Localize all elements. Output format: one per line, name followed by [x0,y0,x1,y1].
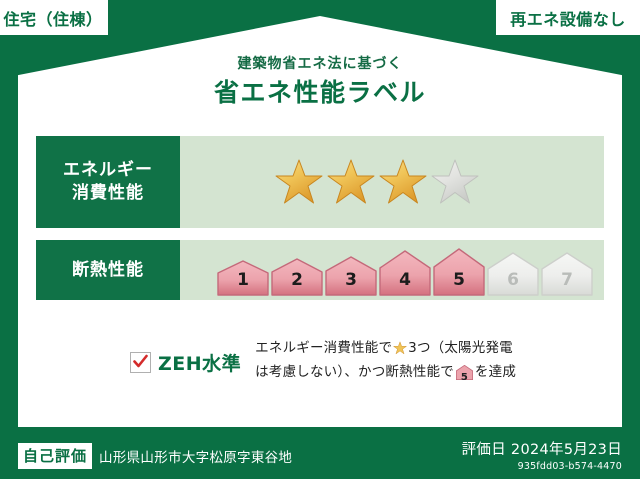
zeh-desc-part1: エネルギー消費性能で [255,340,392,356]
zeh-desc-stars: 3つ（太陽光発電 [408,340,513,356]
star-filled-icon [378,157,428,207]
house-level-filled-icon: 5 [433,248,485,296]
title-subtitle: 建築物省エネ法に基づく [0,56,640,73]
row-energy-label: エネルギー 消費性能 [36,136,180,228]
zeh-standard-block: ZEH水準 エネルギー消費性能で3つ（太陽光発電 は考慮しない）、かつ断熱性能で… [130,338,560,387]
zeh-mark: ZEH水準 [130,349,241,376]
row-energy-value [180,136,604,228]
zeh-checkbox[interactable] [130,352,151,373]
footer-left: 自己評価 山形県山形市大字松原字東谷地 [18,443,292,469]
row-energy-label-line2: 消費性能 [72,182,144,205]
house-level-filled-icon: 2 [271,258,323,296]
badge-renewable-energy: 再エネ設備なし [496,0,640,35]
footer: 自己評価 山形県山形市大字松原字東谷地 評価日 2024年5月23日 935fd… [0,427,640,479]
star-filled-icon [393,341,407,362]
evaluation-id: 935fdd03-b574-4470 [462,461,622,472]
house-level-empty-icon: 6 [487,252,539,296]
star-empty-icon [430,157,480,207]
house-level-empty-icon: 7 [541,252,593,296]
row-energy-label-line1: エネルギー [63,159,153,182]
badge-building-type: 住宅（住棟） [0,0,108,35]
self-evaluation-badge: 自己評価 [18,443,92,469]
zeh-title: ZEH水準 [158,349,241,376]
zeh-desc-part3: を達成 [475,364,516,380]
house-level-filled-icon: 4 [379,250,431,296]
row-insulation-performance: 断熱性能 1 [36,240,604,300]
house-level-filled-icon: 1 [217,260,269,296]
star-filled-icon [274,157,324,207]
energy-performance-label: 住宅（住棟） 再エネ設備なし 建築物省エネ法に基づく 省エネ性能ラベル エネルギ… [0,0,640,479]
evaluation-date: 評価日 2024年5月23日 [462,438,622,459]
check-icon [132,353,149,370]
footer-right: 評価日 2024年5月23日 935fdd03-b574-4470 [462,438,622,472]
zeh-description: エネルギー消費性能で3つ（太陽光発電 は考慮しない）、かつ断熱性能で5を達成 [255,338,516,387]
property-address: 山形県山形市大字松原字東谷地 [99,446,292,466]
insulation-level-scale: 1 2 3 4 [217,244,595,296]
row-insulation-value: 1 2 3 4 [180,240,604,300]
zeh-desc-house-num: 5 [456,370,473,386]
row-insulation-label-line1: 断熱性能 [72,259,144,282]
star-rating [274,157,480,207]
house-level-filled-icon: 5 [456,365,473,387]
title-block: 建築物省エネ法に基づく 省エネ性能ラベル [0,56,640,108]
page-title: 省エネ性能ラベル [0,77,640,108]
house-level-filled-icon: 3 [325,256,377,296]
star-filled-icon [326,157,376,207]
zeh-desc-part2: は考慮しない）、かつ断熱性能で [255,364,454,380]
row-energy-consumption: エネルギー 消費性能 [36,136,604,228]
row-insulation-label: 断熱性能 [36,240,180,300]
